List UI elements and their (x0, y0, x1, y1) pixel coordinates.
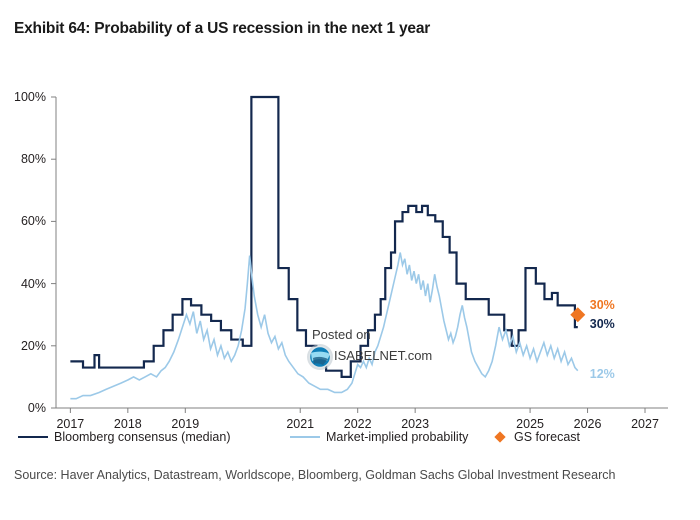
legend-item-label: Market-implied probability (326, 430, 468, 444)
bloomberg-consensus-value: 30% (590, 317, 615, 331)
y-tick-label: 100% (2, 90, 46, 104)
chart-page: Exhibit 64: Probability of a US recessio… (0, 0, 700, 520)
watermark-line-1: Posted on (312, 327, 371, 342)
x-tick-label: 2022 (344, 417, 372, 431)
page-title: Exhibit 64: Probability of a US recessio… (14, 20, 674, 38)
x-tick-label: 2019 (171, 417, 199, 431)
legend-item-label: Bloomberg consensus (median) (54, 430, 230, 444)
y-tick-label: 40% (2, 277, 46, 291)
legend-item-bloomberg-consensus-median[interactable]: Bloomberg consensus (median) (18, 430, 230, 444)
legend-line-icon (18, 436, 48, 438)
x-tick-label: 2025 (516, 417, 544, 431)
globe-logo-icon (305, 342, 335, 372)
y-tick-label: 20% (2, 339, 46, 353)
series-market-implied-probability (70, 253, 577, 399)
x-tick-label: 2018 (114, 417, 142, 431)
x-tick-label: 2021 (286, 417, 314, 431)
x-tick-label: 2017 (56, 417, 84, 431)
legend-item-label: GS forecast (514, 430, 580, 444)
gs-forecast-diamond-marker (570, 307, 585, 322)
source-note: Source: Haver Analytics, Datastream, Wor… (14, 467, 682, 484)
x-tick-label: 2027 (631, 417, 659, 431)
legend-diamond-icon (494, 431, 505, 442)
chart-legend: Bloomberg consensus (median)Market-impli… (18, 430, 682, 450)
legend-item-gs-forecast[interactable]: GS forecast (488, 430, 580, 444)
y-tick-label: 0% (2, 401, 46, 415)
watermark-line-2: ISABELNET.com (334, 348, 432, 363)
legend-line-icon (290, 436, 320, 438)
x-tick-label: 2023 (401, 417, 429, 431)
x-tick-label: 2026 (574, 417, 602, 431)
y-tick-label: 60% (2, 214, 46, 228)
chart-plot-area: 0%20%40%60%80%100% 201720182019202120222… (0, 80, 700, 425)
legend-item-market-implied-probability[interactable]: Market-implied probability (290, 430, 468, 444)
y-tick-label: 80% (2, 152, 46, 166)
gs-forecast-value: 30% (590, 298, 615, 312)
market-implied-value: 12% (590, 367, 615, 381)
